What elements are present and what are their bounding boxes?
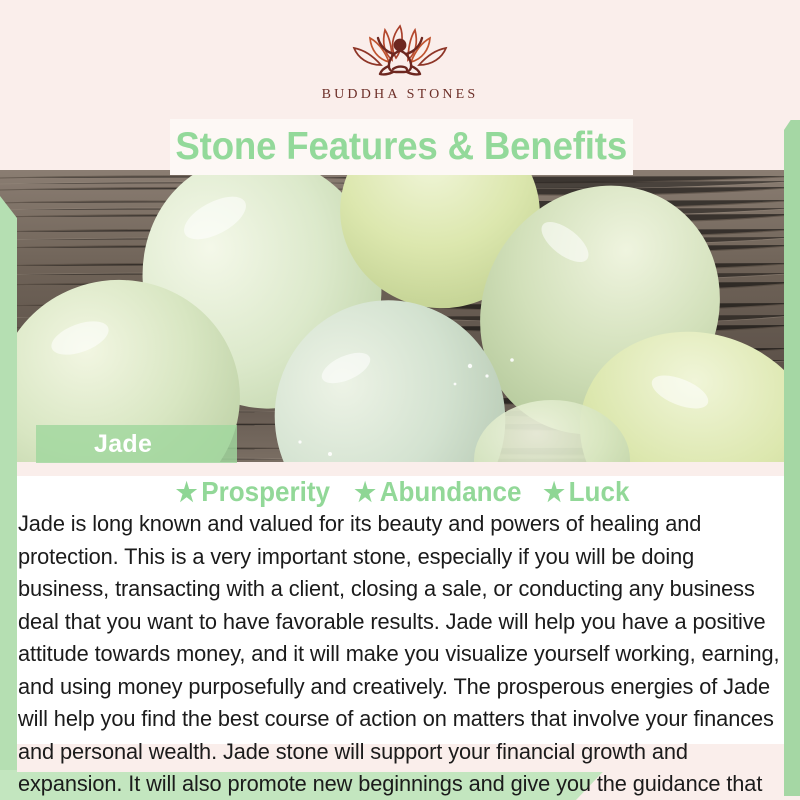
star-icon: ★ bbox=[543, 477, 565, 507]
keyword-list: ★Prosperity★Abundance★Luck bbox=[17, 476, 786, 508]
stone-description: Jade is long known and valued for its be… bbox=[18, 508, 782, 800]
keyword-item: ★Abundance bbox=[354, 476, 521, 508]
keyword-label: Luck bbox=[569, 476, 630, 507]
brand-logo: BUDDHA STONES bbox=[322, 20, 479, 103]
stone-name: Jade bbox=[94, 430, 152, 459]
page-title: Stone Features & Benefits bbox=[176, 125, 628, 169]
lotus-meditation-icon bbox=[340, 20, 460, 82]
stone-name-banner: Jade bbox=[36, 425, 237, 463]
brand-header: BUDDHA STONES bbox=[0, 0, 800, 120]
product-info-card: BUDDHA STONES Stone Features & Benefits … bbox=[0, 0, 800, 800]
section-title-banner: Stone Features & Benefits bbox=[170, 119, 633, 175]
keyword-label: Abundance bbox=[380, 476, 522, 507]
brand-name: BUDDHA STONES bbox=[322, 87, 479, 103]
decorative-bar-right bbox=[784, 106, 800, 796]
keyword-item: ★Prosperity bbox=[176, 476, 330, 508]
star-icon: ★ bbox=[176, 477, 198, 507]
star-icon: ★ bbox=[354, 477, 376, 507]
stone-photo bbox=[0, 170, 800, 462]
keyword-label: Prosperity bbox=[202, 476, 331, 507]
keyword-item: ★Luck bbox=[543, 476, 629, 508]
decorative-bar-left bbox=[0, 196, 17, 770]
